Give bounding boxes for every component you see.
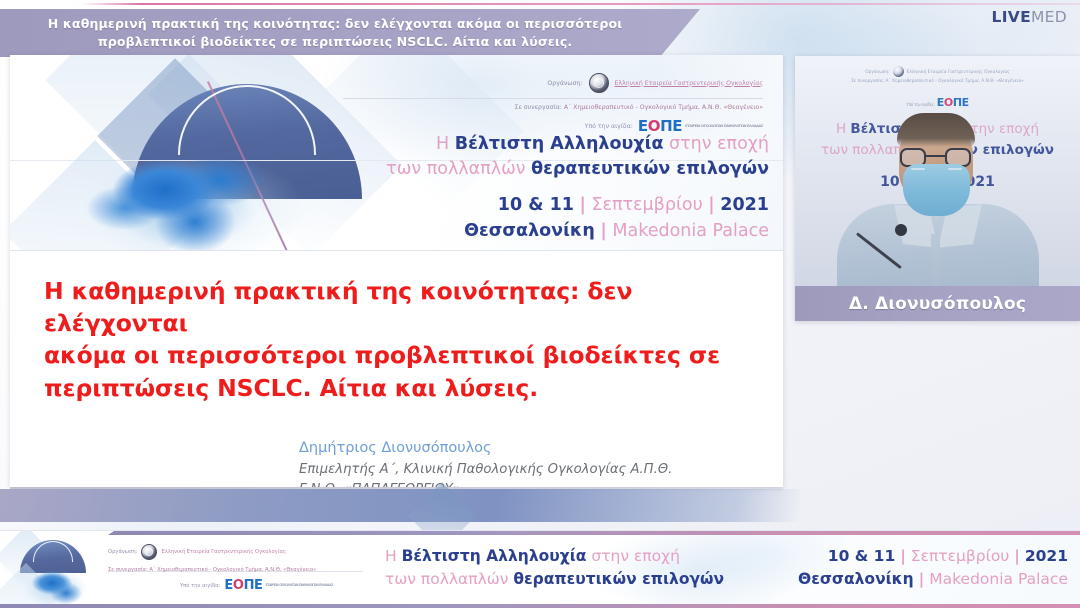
video-backdrop-organizers: Οργάνωση:Ελληνική Εταιρεία Γαστρεντερική…	[807, 66, 1068, 86]
footer-date-sep-2: |	[1014, 547, 1020, 565]
banner-ink-cloud	[45, 160, 335, 251]
video-society-seal-icon	[893, 66, 904, 77]
speaker-hair	[897, 113, 975, 147]
footer-society-seal-icon	[141, 544, 157, 560]
banner-org-label: Οργάνωση:	[547, 80, 582, 87]
footer-eope-subtext: ΕΤΑΙΡΕΙΑ ΟΓΚΟΛΟΓΩΝ ΠΑΘΟΛΟΓΩΝ ΕΛΛΑΔΑΣ	[266, 584, 333, 588]
video-coop: Σε συνεργασία: Α΄ Χημειοθεραπευτικό - Ογ…	[807, 77, 1068, 86]
banner-date-days: 10 & 11	[498, 195, 574, 215]
footer-auspices-label: Υπό την αιγίδα:	[180, 583, 220, 589]
banner-headline-l2-a: των πολλαπλών	[386, 159, 531, 179]
footer-place-sep: |	[919, 570, 925, 588]
banner-coop-label: Σε συνεργασία:	[515, 104, 562, 111]
speaker-glasses-bridge	[926, 155, 945, 157]
banner-headline-l1-b: Βέλτιστη Αλληλουχία	[455, 134, 664, 154]
slide-banner: Οργάνωση: Ελληνική Εταιρεία Γαστρεντερικ…	[10, 55, 783, 251]
livemed-logo-primary: LIVE	[992, 8, 1031, 26]
banner-headline-l1-a: Η	[436, 134, 455, 154]
footer-date-days: 10 & 11	[828, 547, 895, 565]
footer-eope-e: E	[224, 578, 232, 593]
slide-speaker-name: Δημήτριος Διονυσόπουλος	[299, 438, 749, 460]
microphone-head-icon	[895, 224, 907, 236]
video-head-l1-a: Η	[836, 121, 850, 137]
footer-head-l1-c: στην εποχή	[586, 547, 679, 565]
footer-date-sep-1: |	[900, 547, 906, 565]
footer-ink-cloud	[8, 571, 104, 608]
slide-title-line-2: ακόμα οι περισσότεροι προβλεπτικοί βιοδε…	[44, 339, 749, 371]
banner-coop-value: Α΄ Χημειοθεραπευτικό - Ογκολογικό Τμήμα,…	[564, 104, 763, 111]
livemed-logo-secondary: MED	[1031, 8, 1067, 26]
footer-city: Θεσσαλονίκη	[798, 570, 914, 588]
video-auspices-label: Υπό την αιγίδα:	[906, 103, 933, 108]
slide-speaker-affiliation-line-1: Επιμελητής Α΄, Κλινική Παθολογικής Ογκολ…	[299, 460, 749, 480]
banner-venue: Makedonia Palace	[612, 221, 769, 241]
eope-logo-subtext: ΕΤΑΙΡΕΙΑ ΟΓΚΟΛΟΓΩΝ ΠΑΘΟΛΟΓΩΝ ΕΛΛΑΔΑΣ	[685, 124, 763, 128]
slide-title-line-3: περιπτώσεις NSCLC. Αίτια και λύσεις.	[44, 372, 749, 404]
banner-dateline: 10 & 11 | Σεπτεμβρίου | 2021	[498, 195, 769, 215]
slide-title-line-1: Η καθημερινή πρακτική της κοινότητας: δε…	[44, 275, 749, 339]
banner-date-sep-2: |	[708, 195, 714, 215]
banner-date-year: 2021	[720, 195, 769, 215]
footer-event-details: 10 & 11 | Σεπτεμβρίου | 2021 Θεσσαλονίκη…	[798, 545, 1068, 591]
footer-head-l2-a: των πολλαπλών	[385, 570, 513, 588]
slide-speaker-affiliation-line-2: Γ.Ν.Θ. «ΠΑΠΑΓΕΩΡΓΙΟΥ»	[299, 480, 749, 487]
event-footer: Οργάνωση: Ελληνική Εταιρεία Γαστρεντερικ…	[0, 530, 1080, 608]
presentation-slide[interactable]: Οργάνωση: Ελληνική Εταιρεία Γαστρεντερικ…	[10, 55, 783, 487]
video-eope-e: E	[937, 96, 944, 109]
footer-organizers: Οργάνωση: Ελληνική Εταιρεία Γαστρεντερικ…	[108, 544, 388, 593]
footer-head-l2-b: θεραπευτικών επιλογών	[513, 570, 724, 588]
video-eope-pe: ΠΕ	[953, 96, 969, 109]
footer-eope-logo: EΟΠΕ ΕΤΑΙΡΕΙΑ ΟΓΚΟΛΟΓΩΝ ΠΑΘΟΛΟΓΩΝ ΕΛΛΑΔΑ…	[224, 578, 333, 593]
banner-organizers: Οργάνωση: Ελληνική Εταιρεία Γαστρεντερικ…	[215, 73, 763, 135]
banner-org-society: Ελληνική Εταιρεία Γαστρεντερικής Ογκολογ…	[615, 80, 764, 87]
footer-headline: Η Βέλτιστη Αλληλουχία στην εποχή των πολ…	[385, 545, 724, 591]
slide-title: Η καθημερινή πρακτική της κοινότητας: δε…	[44, 275, 749, 404]
video-org-society: Ελληνική Εταιρεία Γαστρεντερικής Ογκολογ…	[907, 70, 1010, 75]
banner-placeline: Θεσσαλονίκη | Makedonia Palace	[464, 221, 769, 241]
banner-org-rule	[343, 98, 763, 99]
decorative-band	[0, 489, 800, 522]
banner-date-sep-1: |	[580, 195, 586, 215]
speaker-name-label: Δ. Διονυσόπουλος	[849, 294, 1026, 314]
footer-venue: Makedonia Palace	[929, 570, 1068, 588]
footer-eope-o: Ο	[233, 578, 244, 593]
footer-bottom-accent-bar	[0, 604, 1080, 608]
footer-coop: Σε συνεργασία: Α΄ Χημειοθεραπευτικό - Ογ…	[108, 567, 316, 573]
banner-headline: Η Βέλτιστη Αλληλουχία στην εποχή των πολ…	[386, 133, 769, 182]
banner-place-sep: |	[600, 221, 606, 241]
session-title-line-1: Η καθημερινή πρακτική της κοινότητας: δε…	[48, 15, 622, 33]
session-title-band: Η καθημερινή πρακτική της κοινότητας: δε…	[0, 9, 700, 57]
session-title-line-2: προβλεπτικοί βιοδείκτες σε περιπτώσεις N…	[98, 33, 573, 51]
speaker-face-mask	[903, 164, 970, 216]
speaker-video[interactable]: Οργάνωση:Ελληνική Εταιρεία Γαστρεντερική…	[795, 56, 1080, 321]
footer-org-society: Ελληνική Εταιρεία Γαστρεντερικής Ογκολογ…	[161, 549, 286, 555]
footer-top-accent-bar	[108, 531, 1080, 535]
banner-date-month: Σεπτεμβρίου	[592, 195, 703, 215]
society-seal-icon	[589, 73, 609, 93]
footer-org-label: Οργάνωση:	[108, 549, 137, 555]
banner-city: Θεσσαλονίκη	[464, 221, 595, 241]
livemed-logo[interactable]: LIVEMED	[992, 8, 1067, 26]
banner-auspices-label: Υπό την αιγίδα:	[585, 123, 633, 130]
footer-eope-pe: ΠΕ	[244, 578, 263, 593]
footer-date-year: 2021	[1025, 547, 1068, 565]
slide-speaker-block: Δημήτριος Διονυσόπουλος Επιμελητής Α΄, Κ…	[299, 438, 749, 487]
video-org-label: Οργάνωση:	[865, 70, 889, 75]
video-eope-logo: Υπό την αιγίδα:EΟΠΕ	[795, 96, 1080, 109]
banner-headline-l1-c: στην εποχή	[663, 134, 769, 154]
speaker-name-bar: Δ. Διονυσόπουλος	[795, 286, 1080, 321]
top-accent-rule	[80, 3, 1080, 5]
footer-head-l1-a: Η	[385, 547, 402, 565]
banner-headline-l2-b: θεραπευτικών επιλογών	[531, 159, 769, 179]
footer-date-month: Σεπτεμβρίου	[911, 547, 1010, 565]
video-eope-o: Ο	[944, 96, 953, 109]
slide-body: Η καθημερινή πρακτική της κοινότητας: δε…	[10, 251, 783, 487]
footer-head-l1-b: Βέλτιστη Αλληλουχία	[402, 547, 587, 565]
